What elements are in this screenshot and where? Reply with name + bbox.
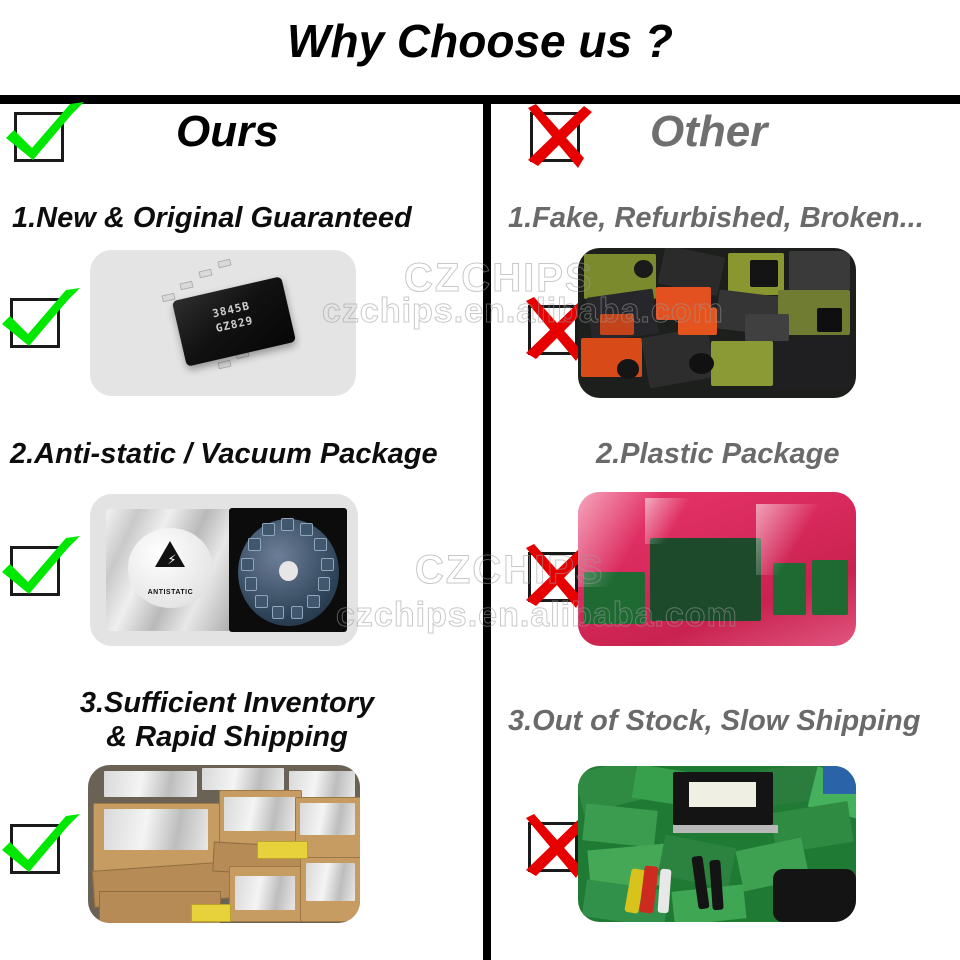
row-1-other-heading: 1.Fake, Refurbished, Broken... [508, 201, 924, 235]
page-title: Why Choose us ? [0, 14, 960, 68]
checkbox-ours-header [14, 112, 64, 162]
tape-reel [229, 508, 347, 633]
photo-row-2-ours: ⚡ ANTISTATIC [90, 494, 358, 646]
row-2-other-heading: 2.Plastic Package [596, 437, 839, 471]
photo-row-1-ours: 3845B GZ829 [90, 250, 356, 396]
photo-row-1-other [578, 248, 856, 398]
photo-row-2-other [578, 492, 856, 646]
photo-row-3-other [578, 766, 856, 922]
photo-row-3-ours [88, 765, 360, 923]
header-divider-horizontal [0, 95, 960, 104]
checkbox-other-header [530, 112, 580, 162]
why-choose-us-infographic: Why Choose us ? Ours Other 1.New & Origi… [0, 0, 960, 960]
column-divider-vertical [483, 95, 491, 960]
checkbox-row-3 [10, 824, 60, 874]
checkbox-row-1 [10, 298, 60, 348]
antistatic-bag: ⚡ ANTISTATIC [106, 509, 235, 631]
checkbox-row-2 [10, 546, 60, 596]
xbox-row-1 [528, 305, 578, 355]
watermark-brand-1: CZCHIPS [404, 256, 594, 301]
row-2-ours-heading: 2.Anti-static / Vacuum Package [10, 437, 438, 471]
column-header-other: Other [650, 107, 767, 157]
xbox-row-2 [528, 552, 578, 602]
row-3-other-heading: 3.Out of Stock, Slow Shipping [508, 704, 920, 738]
row-3-ours-heading: 3.Sufficient Inventory & Rapid Shipping [62, 686, 392, 754]
row-1-ours-heading: 1.New & Original Guaranteed [12, 201, 412, 235]
column-header-ours: Ours [176, 107, 279, 157]
xbox-row-3 [528, 822, 578, 872]
antistatic-bag-label: ANTISTATIC [106, 589, 235, 596]
